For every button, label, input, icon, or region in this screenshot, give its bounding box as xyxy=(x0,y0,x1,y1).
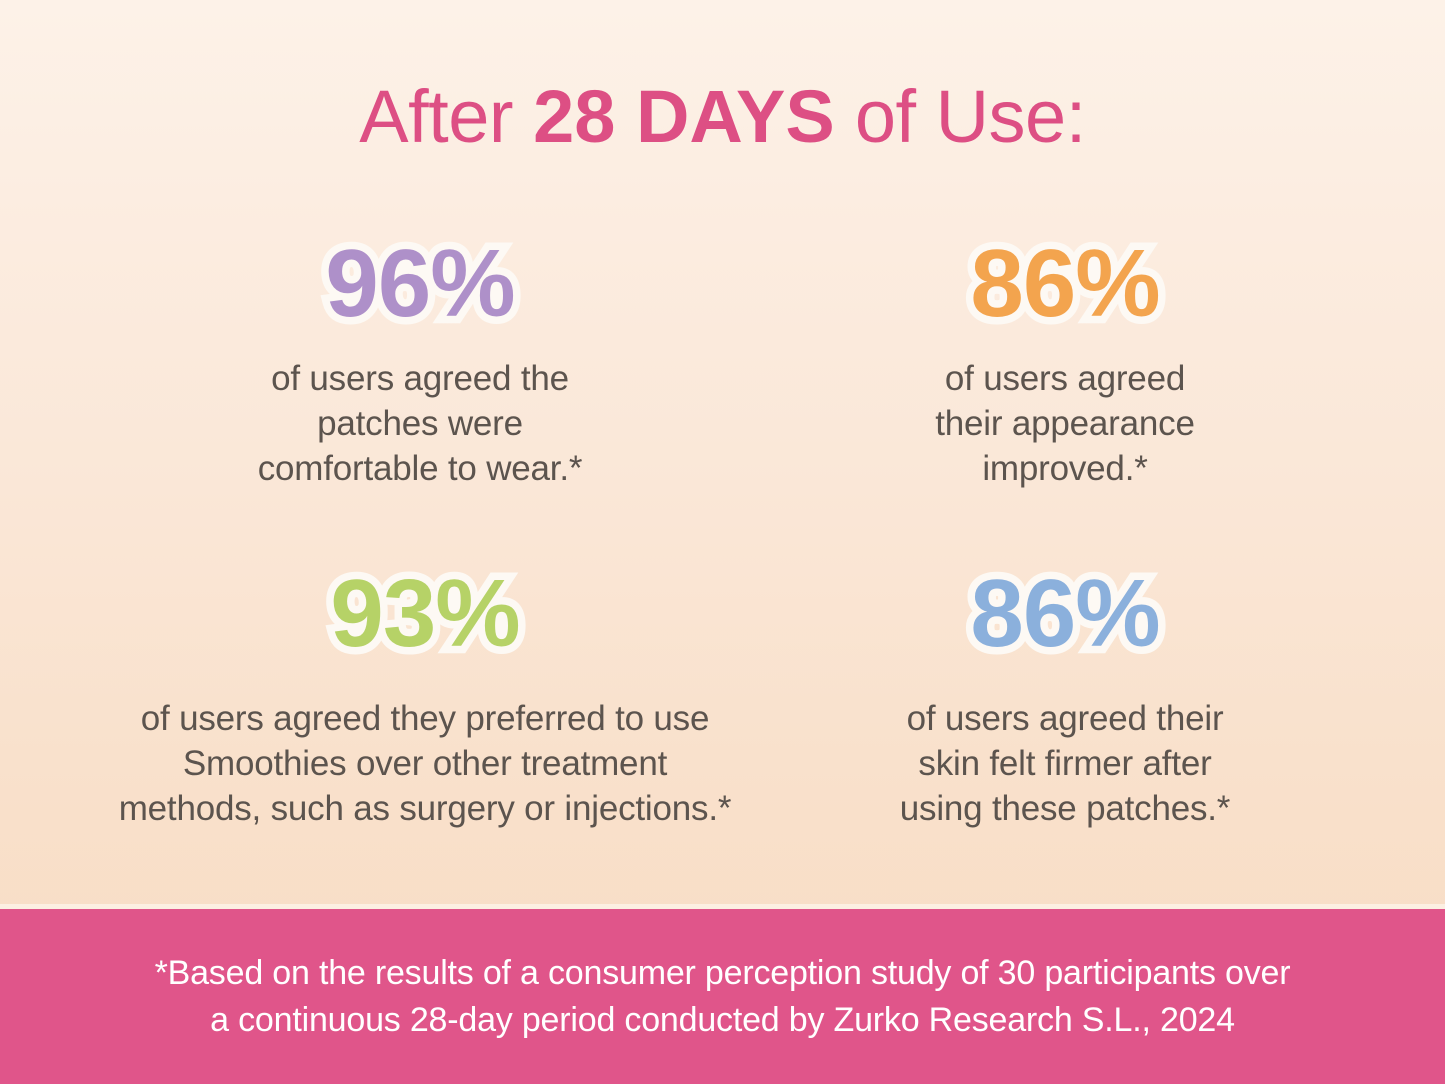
infographic-poster: After 28 DAYS of Use: 96% of users agree… xyxy=(0,0,1445,1084)
stat-description-line: improved.* xyxy=(860,446,1270,491)
footnote-line: *Based on the results of a consumer perc… xyxy=(23,950,1423,997)
stat-description-line: patches were xyxy=(180,401,660,446)
stat-description-line: of users agreed xyxy=(860,356,1270,401)
headline-emphasis: 28 DAYS xyxy=(533,75,835,158)
stat-description-line: of users agreed they preferred to use xyxy=(65,696,785,741)
footnote-text: *Based on the results of a consumer perc… xyxy=(23,950,1423,1044)
stat-value-firmness: 86% xyxy=(970,562,1159,666)
stat-description-line: of users agreed their xyxy=(855,696,1275,741)
stat-description-comfort: of users agreed the patches were comfort… xyxy=(180,356,660,491)
stat-value-wrap-comfort: 96% xyxy=(180,232,660,336)
stat-description-line: comfortable to wear.* xyxy=(180,446,660,491)
stat-value-wrap-appearance: 86% xyxy=(860,232,1270,336)
headline-suffix: of Use: xyxy=(835,75,1086,158)
stat-description-firmness: of users agreed their skin felt firmer a… xyxy=(855,696,1275,831)
stat-description-line: methods, such as surgery or injections.* xyxy=(65,786,785,831)
stat-description-line: their appearance xyxy=(860,401,1270,446)
stat-value-wrap-preferred: 93% xyxy=(65,562,785,666)
stat-description-line: skin felt firmer after xyxy=(855,741,1275,786)
stat-card-comfort: 96% of users agreed the patches were com… xyxy=(180,232,660,491)
footnote-banner: *Based on the results of a consumer perc… xyxy=(0,909,1445,1084)
stats-grid: 96% of users agreed the patches were com… xyxy=(0,222,1445,882)
stat-value-preferred: 93% xyxy=(330,562,519,666)
stat-description-appearance: of users agreed their appearance improve… xyxy=(860,356,1270,491)
stat-description-line: of users agreed the xyxy=(180,356,660,401)
stat-value-comfort: 96% xyxy=(325,232,514,336)
stat-card-firmness: 86% of users agreed their skin felt firm… xyxy=(855,562,1275,831)
page-title: After 28 DAYS of Use: xyxy=(0,74,1445,160)
stat-value-appearance: 86% xyxy=(970,232,1159,336)
stat-description-line: using these patches.* xyxy=(855,786,1275,831)
headline-prefix: After xyxy=(359,75,533,158)
footnote-line: a continuous 28-day period conducted by … xyxy=(23,997,1423,1044)
stat-description-line: Smoothies over other treatment xyxy=(65,741,785,786)
stat-card-preferred: 93% of users agreed they preferred to us… xyxy=(65,562,785,831)
stat-value-wrap-firmness: 86% xyxy=(855,562,1275,666)
stat-card-appearance: 86% of users agreed their appearance imp… xyxy=(860,232,1270,491)
stat-description-preferred: of users agreed they preferred to use Sm… xyxy=(65,696,785,831)
